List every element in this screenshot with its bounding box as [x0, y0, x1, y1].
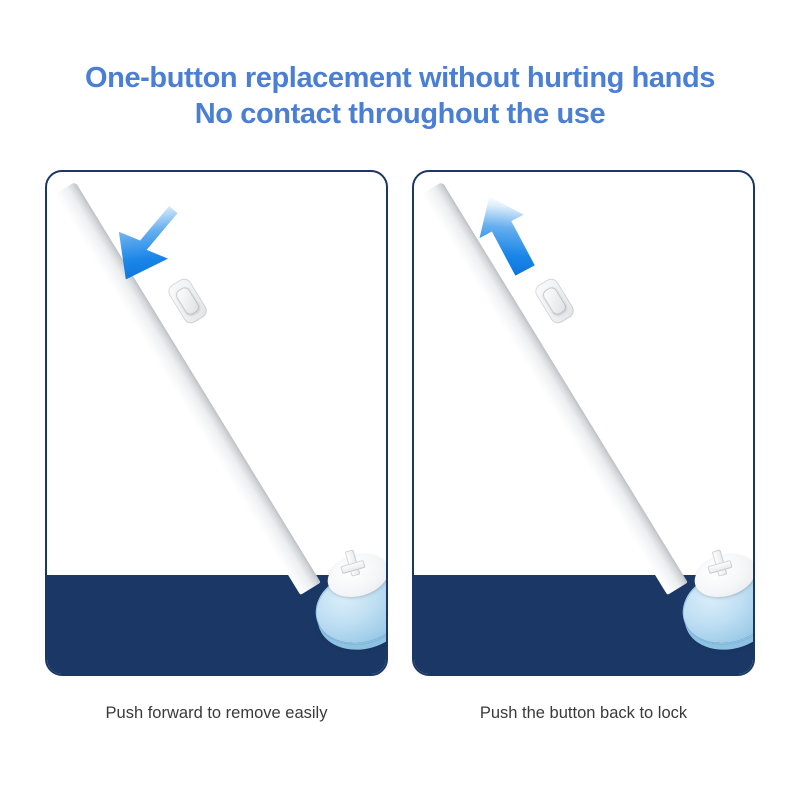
arrow-down-right-icon	[105, 194, 215, 309]
headline-line-1: One-button replacement without hurting h…	[85, 62, 715, 94]
caption-lock: Push the button back to lock	[412, 702, 755, 724]
panel-lock	[412, 170, 755, 676]
panel-lock-stage	[414, 172, 753, 674]
panel-remove-stage	[47, 172, 386, 674]
headline-line-2: No contact throughout the use	[0, 96, 800, 132]
caption-remove: Push forward to remove easily	[45, 702, 388, 724]
arrow-up-left-icon	[464, 182, 574, 297]
panel-remove	[45, 170, 388, 676]
illustration-panels	[0, 170, 800, 678]
page-title: One-button replacement without hurting h…	[0, 60, 800, 132]
